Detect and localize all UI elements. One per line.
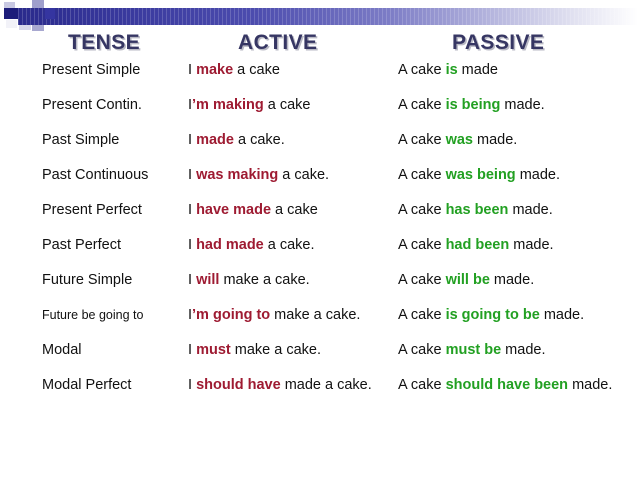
tense-label: Modal [42, 341, 192, 359]
passive-sentence-highlight: is going to be [446, 307, 540, 323]
passive-sentence-prefix: A cake [398, 132, 446, 148]
passive-sentence-highlight: is being [446, 97, 501, 113]
active-sentence-highlight: was making [196, 167, 278, 183]
active-sentence: I’m making a cake [188, 96, 394, 114]
active-sentence-suffix: a cake [264, 97, 311, 113]
active-sentence-suffix: make a cake. [219, 272, 309, 288]
table-row: Past PerfectI had made a cake.A cake had… [0, 236, 638, 271]
active-sentence-suffix: a cake. [234, 132, 285, 148]
active-sentence-prefix: I [188, 237, 196, 253]
passive-sentence-suffix: made. [508, 202, 552, 218]
passive-sentence-prefix: A cake [398, 377, 446, 393]
passive-sentence-highlight: was [446, 132, 473, 148]
banner-square-6 [32, 0, 44, 8]
passive-sentence-prefix: A cake [398, 237, 446, 253]
passive-sentence-prefix: A cake [398, 342, 446, 358]
table-row: Present SimpleI make a cakeA cake is mad… [0, 61, 638, 96]
active-sentence: I make a cake [188, 61, 394, 79]
table-row: Present PerfectI have made a cakeA cake … [0, 201, 638, 236]
passive-sentence-suffix: made. [568, 377, 612, 393]
column-header-active: ACTIVE [238, 31, 317, 55]
passive-sentence-suffix: made. [473, 132, 517, 148]
passive-sentence: A cake was made. [398, 131, 630, 149]
passive-sentence-prefix: A cake [398, 307, 446, 323]
passive-sentence-prefix: A cake [398, 97, 446, 113]
passive-sentence-highlight: had been [446, 237, 510, 253]
table-row: Present Contin.I’m making a cakeA cake i… [0, 96, 638, 131]
passive-sentence: A cake should have been made. [398, 376, 630, 394]
active-sentence-prefix: I [188, 202, 196, 218]
passive-sentence: A cake is going to be made. [398, 306, 630, 324]
passive-sentence: A cake had been made. [398, 236, 630, 254]
active-sentence-prefix: I [188, 167, 196, 183]
active-sentence-highlight: made [196, 132, 234, 148]
passive-sentence: A cake has been made. [398, 201, 630, 219]
banner-square-3 [4, 8, 18, 19]
banner-gradient-bar [18, 8, 638, 25]
active-sentence-highlight: make [196, 62, 233, 78]
table-row: Past SimpleI made a cake.A cake was made… [0, 131, 638, 166]
passive-sentence: A cake is made [398, 61, 630, 79]
active-sentence-highlight: will [196, 272, 219, 288]
passive-sentence-suffix: made. [501, 342, 545, 358]
active-sentence: I should have made a cake. [188, 376, 394, 394]
active-sentence-prefix: I [188, 272, 196, 288]
active-sentence-suffix: make a cake. [231, 342, 321, 358]
passive-sentence: A cake must be made. [398, 341, 630, 359]
tense-label: Past Continuous [42, 166, 192, 184]
table-row: Modal PerfectI should have made a cake.A… [0, 376, 638, 422]
passive-sentence-suffix: made. [540, 307, 584, 323]
passive-sentence-highlight: has been [446, 202, 509, 218]
passive-sentence-prefix: A cake [398, 167, 446, 183]
active-sentence: I must make a cake. [188, 341, 394, 359]
active-sentence: I have made a cake [188, 201, 394, 219]
tense-label: Future be going to [42, 306, 192, 324]
active-sentence-highlight: have made [196, 202, 271, 218]
passive-sentence: A cake is being made. [398, 96, 630, 114]
active-sentence-highlight: should have [196, 377, 281, 393]
column-header-passive: PASSIVE [452, 31, 544, 55]
active-sentence: I made a cake. [188, 131, 394, 149]
passive-sentence-prefix: A cake [398, 62, 446, 78]
active-sentence-highlight: had made [196, 237, 264, 253]
passive-sentence-suffix: made. [500, 97, 544, 113]
column-header-tense: TENSE [68, 31, 140, 55]
tense-label: Present Simple [42, 61, 192, 79]
passive-sentence-highlight: will be [446, 272, 490, 288]
table-row: Future be going toI’m going to make a ca… [0, 306, 638, 341]
active-sentence-highlight: ’m making [192, 97, 264, 113]
passive-sentence: A cake will be made. [398, 271, 630, 289]
tense-label: Past Simple [42, 131, 192, 149]
table-row: Past ContinuousI was making a cake.A cak… [0, 166, 638, 201]
active-sentence-suffix: made a cake. [281, 377, 372, 393]
banner-square-2 [16, 1, 27, 7]
banner-square-9 [6, 20, 17, 28]
active-sentence: I had made a cake. [188, 236, 394, 254]
passive-sentence-highlight: is [446, 62, 458, 78]
active-sentence: I will make a cake. [188, 271, 394, 289]
passive-sentence-prefix: A cake [398, 202, 446, 218]
active-sentence-prefix: I [188, 132, 196, 148]
passive-sentence-highlight: should have been [446, 377, 568, 393]
active-sentence-prefix: I [188, 62, 196, 78]
passive-sentence: A cake was being made. [398, 166, 630, 184]
active-sentence-suffix: a cake. [264, 237, 315, 253]
passive-sentence-highlight: must be [446, 342, 502, 358]
banner-square-10 [45, 8, 55, 19]
tense-label: Present Contin. [42, 96, 192, 114]
tense-label: Modal Perfect [42, 376, 192, 394]
passive-sentence-suffix: made. [509, 237, 553, 253]
table-row: ModalI must make a cake.A cake must be m… [0, 341, 638, 376]
tense-voice-table: Present SimpleI make a cakeA cake is mad… [0, 61, 638, 422]
table-row: Future SimpleI will make a cake.A cake w… [0, 271, 638, 306]
active-sentence-highlight: must [196, 342, 231, 358]
passive-sentence-prefix: A cake [398, 272, 446, 288]
active-sentence: I was making a cake. [188, 166, 394, 184]
active-sentence: I’m going to make a cake. [188, 306, 394, 324]
tense-label: Future Simple [42, 271, 192, 289]
active-sentence-suffix: a cake. [278, 167, 329, 183]
active-sentence-highlight: ’m going to [192, 307, 270, 323]
active-sentence-prefix: I [188, 342, 196, 358]
passive-sentence-suffix: made. [516, 167, 560, 183]
active-sentence-suffix: make a cake. [270, 307, 360, 323]
passive-sentence-highlight: was being [446, 167, 516, 183]
active-sentence-suffix: a cake [233, 62, 280, 78]
tense-label: Past Perfect [42, 236, 192, 254]
active-sentence-prefix: I [188, 377, 196, 393]
tense-label: Present Perfect [42, 201, 192, 219]
passive-sentence-suffix: made. [490, 272, 534, 288]
active-sentence-suffix: a cake [271, 202, 318, 218]
passive-sentence-suffix: made [458, 62, 498, 78]
decorative-banner [0, 0, 638, 30]
column-headers: TENSE ACTIVE PASSIVE [0, 31, 638, 59]
